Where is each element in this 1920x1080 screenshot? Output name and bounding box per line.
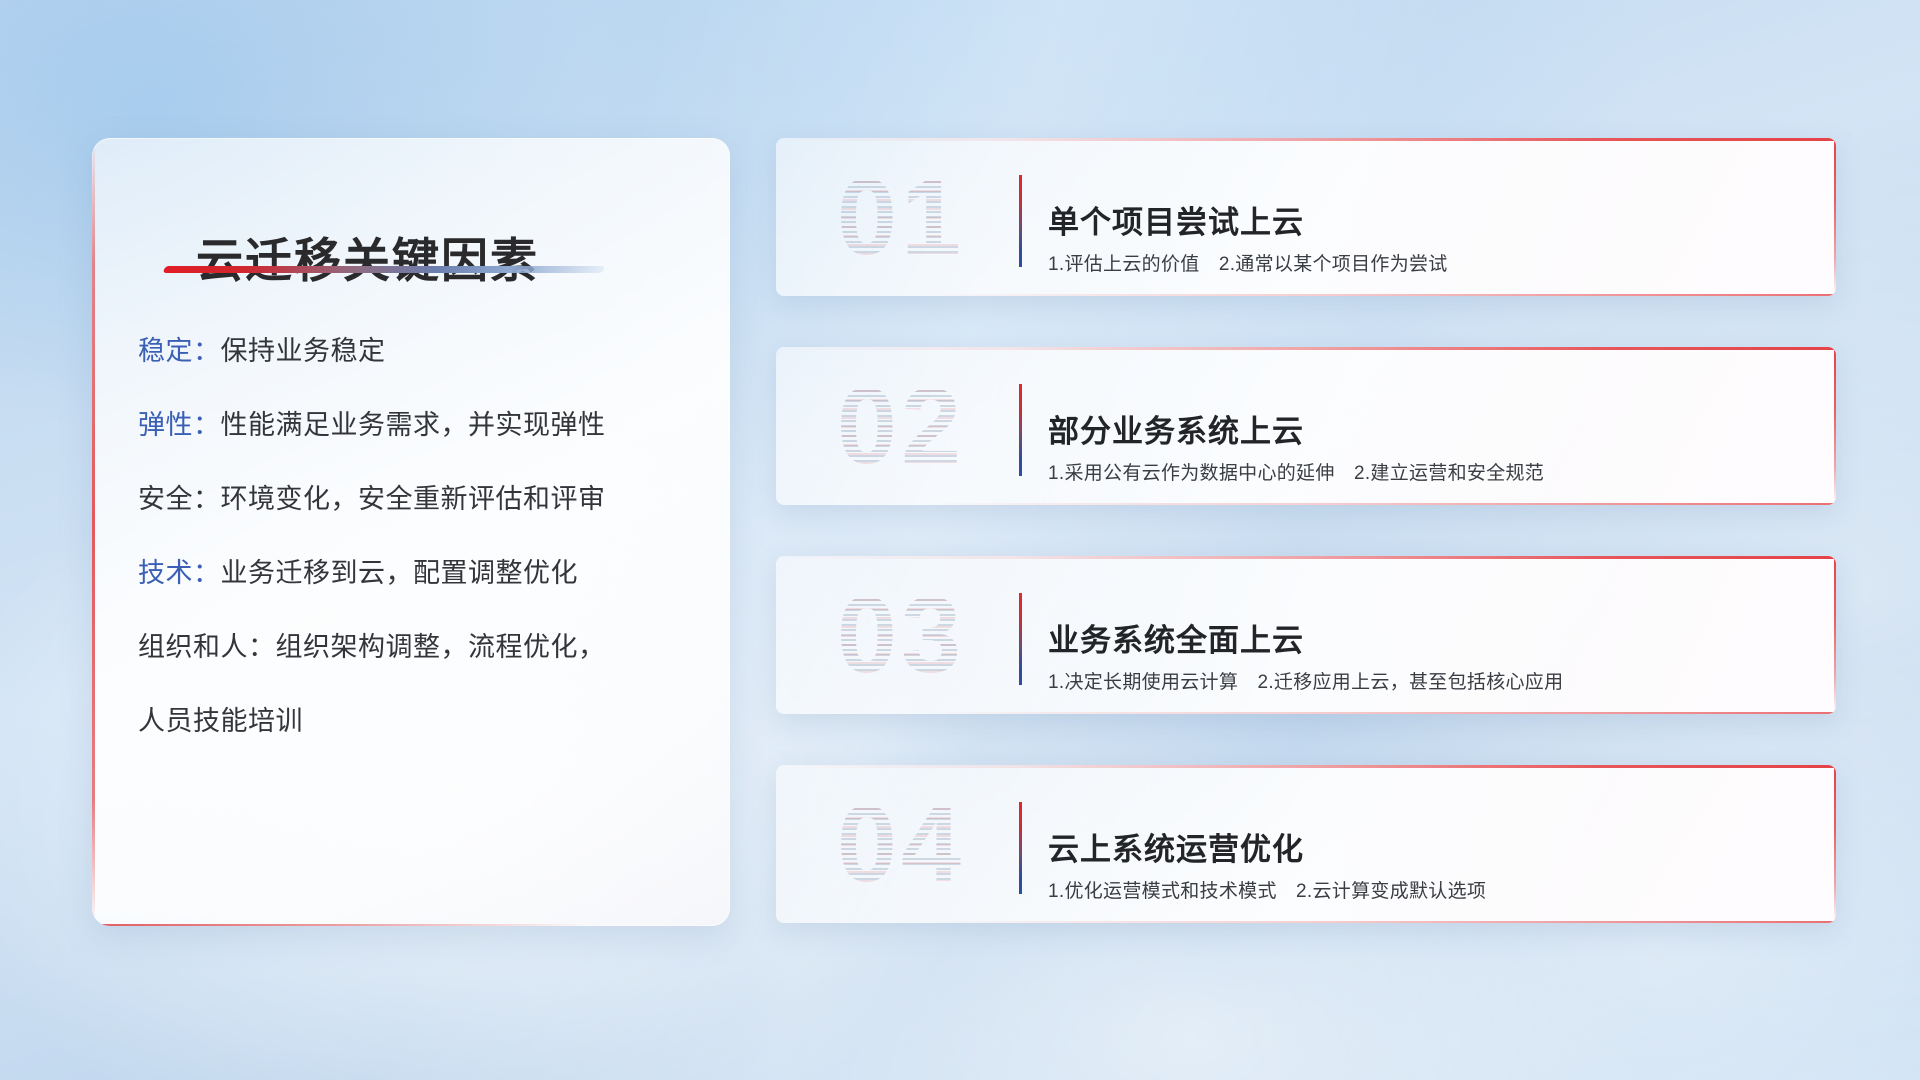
stage-detail: 1.优化运营模式和技术模式 2.云计算变成默认选项	[1048, 876, 1486, 903]
stage-detail: 1.决定长期使用云计算 2.迁移应用上云，甚至包括核心应用	[1048, 667, 1563, 694]
list-item-label: 组织和人：	[138, 632, 276, 662]
stage-title: 部分业务系统上云	[1048, 406, 1304, 451]
card-right-accent	[1834, 556, 1837, 714]
stage-title: 单个项目尝试上云	[1048, 197, 1304, 242]
slide-stage: 云迁移关键因素 稳定：保持业务稳定 弹性：性能满足业务需求，并实现弹性 安全：环…	[0, 0, 1920, 1080]
card-bottom-accent	[924, 712, 1836, 715]
stage-number-watermark-tint: 03	[806, 574, 996, 696]
card-top-accent	[776, 556, 1836, 559]
list-item-text: 业务迁移到云，配置调整优化	[221, 558, 579, 588]
card-top-accent	[776, 347, 1836, 350]
stage-card[interactable]: 01 01 单个项目尝试上云 1.评估上云的价值 2.通常以某个项目作为尝试	[776, 138, 1836, 296]
list-item-text: 性能满足业务需求，并实现弹性	[221, 410, 606, 440]
stage-title: 云上系统运营优化	[1048, 824, 1304, 869]
list-item: 安全：环境变化，安全重新评估和评审	[138, 486, 698, 513]
migration-stage-cards: 01 01 单个项目尝试上云 1.评估上云的价值 2.通常以某个项目作为尝试 0…	[776, 138, 1836, 923]
list-item: 弹性：性能满足业务需求，并实现弹性	[138, 412, 698, 439]
stage-card[interactable]: 02 02 部分业务系统上云 1.采用公有云作为数据中心的延伸 2.建立运营和安…	[776, 347, 1836, 505]
card-divider-bar	[1019, 802, 1022, 894]
list-item-label: 稳定：	[138, 336, 221, 366]
list-item-text: 环境变化，安全重新评估和评审	[221, 484, 606, 514]
list-item: 稳定：保持业务稳定	[138, 338, 698, 365]
stage-number-watermark-tint: 02	[806, 365, 996, 487]
list-item-text: 保持业务稳定	[221, 336, 386, 366]
stage-detail: 1.评估上云的价值 2.通常以某个项目作为尝试	[1048, 249, 1448, 276]
stage-card[interactable]: 04 04 云上系统运营优化 1.优化运营模式和技术模式 2.云计算变成默认选项	[776, 765, 1836, 923]
key-factors-list: 稳定：保持业务稳定 弹性：性能满足业务需求，并实现弹性 安全：环境变化，安全重新…	[138, 338, 698, 735]
card-bottom-accent	[924, 294, 1836, 297]
card-top-accent	[776, 138, 1836, 141]
list-item-label: 安全：	[138, 484, 221, 514]
stage-number-watermark-tint: 01	[806, 156, 996, 278]
stage-card[interactable]: 03 03 业务系统全面上云 1.决定长期使用云计算 2.迁移应用上云，甚至包括…	[776, 556, 1836, 714]
stage-number-watermark-tint: 04	[806, 783, 996, 905]
list-item-text: 人员技能培训	[138, 706, 303, 736]
title-underline-gradient	[163, 266, 606, 273]
list-item: 人员技能培训	[138, 708, 698, 735]
list-item-label: 弹性：	[138, 410, 221, 440]
key-factors-panel: 云迁移关键因素 稳定：保持业务稳定 弹性：性能满足业务需求，并实现弹性 安全：环…	[92, 138, 730, 926]
panel-left-accent-bar	[92, 138, 95, 926]
panel-bottom-accent-bar	[92, 924, 730, 927]
list-item-label: 技术：	[138, 558, 221, 588]
card-divider-bar	[1019, 593, 1022, 685]
page-title: 云迁移关键因素	[196, 222, 539, 291]
card-top-accent	[776, 765, 1836, 768]
list-item-text: 组织架构调整，流程优化，	[276, 632, 606, 662]
card-right-accent	[1834, 765, 1837, 923]
list-item: 组织和人：组织架构调整，流程优化，	[138, 634, 698, 661]
stage-detail: 1.采用公有云作为数据中心的延伸 2.建立运营和安全规范	[1048, 458, 1544, 485]
card-divider-bar	[1019, 175, 1022, 267]
card-bottom-accent	[924, 921, 1836, 924]
card-bottom-accent	[924, 503, 1836, 506]
card-right-accent	[1834, 347, 1837, 505]
stage-title: 业务系统全面上云	[1048, 615, 1304, 660]
card-right-accent	[1834, 138, 1837, 296]
card-divider-bar	[1019, 384, 1022, 476]
list-item: 技术：业务迁移到云，配置调整优化	[138, 560, 698, 587]
